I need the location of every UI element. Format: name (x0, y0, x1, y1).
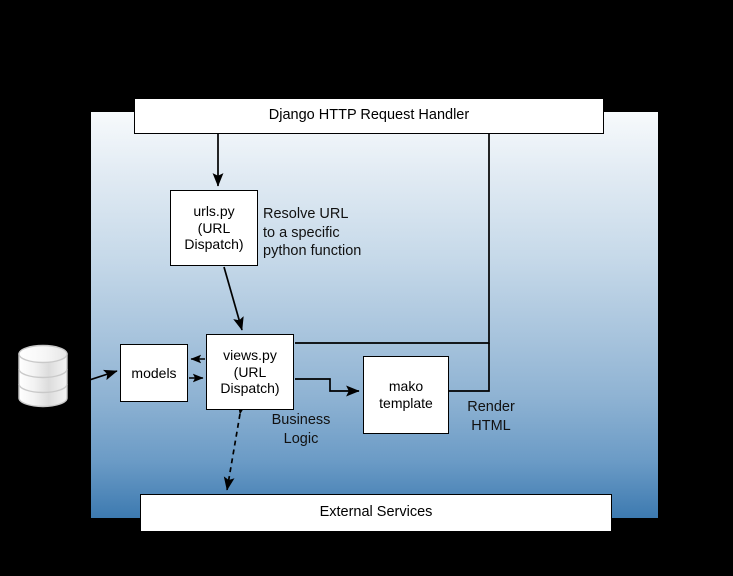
node-django-http-request-handler[interactable]: Django HTTP Request Handler (134, 98, 604, 134)
node-label: External Services (320, 504, 433, 521)
node-label: urls.py (URL Dispatch) (184, 203, 243, 253)
annotation-resolve-url: Resolve URL to a specific python functio… (263, 205, 381, 261)
node-models[interactable]: models (120, 344, 188, 402)
database-cylinder-icon (16, 344, 70, 408)
annotation-business-logic: Business Logic (256, 411, 346, 448)
node-label: views.py (URL Dispatch) (220, 347, 279, 397)
node-label: Django HTTP Request Handler (269, 107, 469, 124)
node-external-services[interactable]: External Services (140, 494, 612, 532)
annotation-render-html: Render HTML (450, 398, 532, 435)
diagram-canvas: Django HTTP Request Handler urls.py (URL… (0, 0, 733, 576)
node-label: models (131, 365, 176, 382)
node-views-py[interactable]: views.py (URL Dispatch) (206, 334, 294, 410)
gradient-backdrop-panel (91, 112, 658, 518)
node-urls-py[interactable]: urls.py (URL Dispatch) (170, 190, 258, 266)
node-label: mako template (379, 378, 433, 411)
node-mako-template[interactable]: mako template (363, 356, 449, 434)
